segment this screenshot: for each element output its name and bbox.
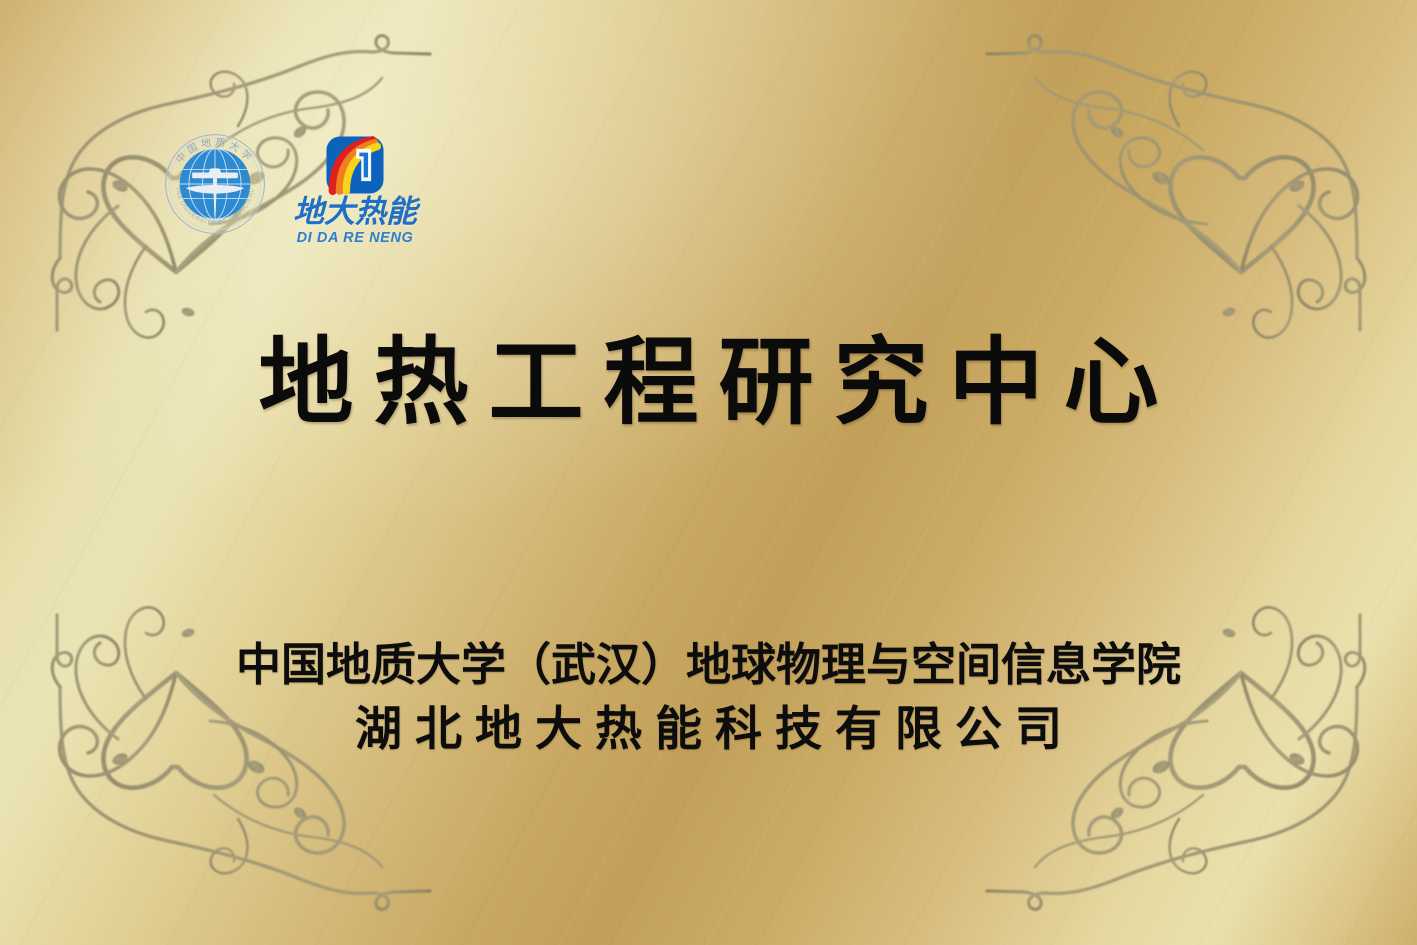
- page-title: 地热工程研究中心: [0, 330, 1417, 436]
- logo-row: 中国地质大学 CHINA UNIVERSITY OF GEOSCIENCES 1…: [163, 132, 417, 246]
- didareneng-rainbow-mark-icon: [324, 134, 386, 196]
- subtitle-block: 中国地质大学（武汉）地球物理与空间信息学院 湖北地大热能科技有限公司: [0, 636, 1417, 760]
- china-university-of-geosciences-seal-icon: 中国地质大学 CHINA UNIVERSITY OF GEOSCIENCES 1…: [163, 132, 267, 236]
- company-name-pinyin: DI DA RE NENG: [297, 231, 414, 246]
- subtitle-line-university: 中国地质大学（武汉）地球物理与空间信息学院: [0, 636, 1417, 694]
- subtitle-line-company: 湖北地大热能科技有限公司: [0, 700, 1417, 760]
- company-name-cn: 地大热能: [293, 197, 417, 228]
- plaque-board: 中国地质大学 CHINA UNIVERSITY OF GEOSCIENCES 1…: [0, 0, 1417, 945]
- didareneng-logo: 地大热能 DI DA RE NENG: [293, 134, 417, 246]
- corner-flourish-top-right: [987, 36, 1365, 338]
- svg-text:1952: 1952: [209, 221, 222, 227]
